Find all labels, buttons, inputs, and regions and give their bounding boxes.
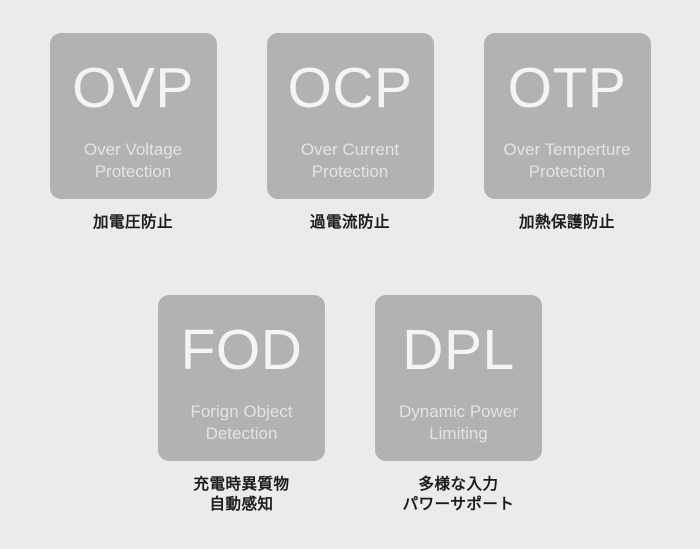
feature-caption-line-1: 過電流防止 (310, 214, 390, 231)
feature-description-line-1: Over Current (301, 140, 399, 159)
feature-description-line-2: Limiting (399, 423, 518, 445)
feature-caption: 過電流防止 (310, 213, 390, 233)
feature-card-dpl[interactable]: DPL Dynamic Power Limiting (375, 295, 542, 461)
feature-description: Over Voltage Protection (84, 139, 182, 183)
feature-card-ovp[interactable]: OVP Over Voltage Protection (50, 33, 217, 199)
features-row-top: OVP Over Voltage Protection 加電圧防止 OCP Ov… (0, 33, 700, 233)
feature-caption: 加熱保護防止 (519, 213, 615, 233)
feature-description-line-2: Protection (503, 161, 630, 183)
feature-description: Over Temperture Protection (503, 139, 630, 183)
feature-ovp[interactable]: OVP Over Voltage Protection 加電圧防止 (50, 33, 217, 233)
feature-description-line-1: Over Temperture (503, 140, 630, 159)
feature-description: Over Current Protection (301, 139, 399, 183)
feature-description-line-1: Over Voltage (84, 140, 182, 159)
feature-acronym: OCP (287, 60, 412, 117)
feature-description: Dynamic Power Limiting (399, 401, 518, 445)
feature-dpl[interactable]: DPL Dynamic Power Limiting 多様な入力 パワーサポート (375, 295, 542, 515)
features-row-bottom: FOD Forign Object Detection 充電時異質物 自動感知 … (0, 295, 700, 515)
feature-caption-line-2: 自動感知 (193, 495, 289, 515)
feature-acronym: OVP (72, 60, 194, 117)
feature-caption: 充電時異質物 自動感知 (193, 475, 289, 515)
feature-caption-line-1: 加電圧防止 (93, 214, 173, 231)
feature-description-line-2: Protection (301, 161, 399, 183)
feature-caption: 加電圧防止 (93, 213, 173, 233)
feature-caption-line-1: 加熱保護防止 (519, 214, 615, 231)
feature-description-line-2: Detection (190, 423, 292, 445)
feature-description-line-1: Forign Object (190, 402, 292, 421)
feature-fod[interactable]: FOD Forign Object Detection 充電時異質物 自動感知 (158, 295, 325, 515)
feature-caption-line-2: パワーサポート (403, 495, 515, 515)
feature-caption-line-1: 多様な入力 (418, 476, 498, 493)
feature-acronym: FOD (181, 322, 303, 379)
feature-card-ocp[interactable]: OCP Over Current Protection (267, 33, 434, 199)
feature-caption-line-1: 充電時異質物 (193, 476, 289, 493)
feature-acronym: OTP (508, 60, 627, 117)
feature-description: Forign Object Detection (190, 401, 292, 445)
feature-description-line-2: Protection (84, 161, 182, 183)
feature-card-otp[interactable]: OTP Over Temperture Protection (484, 33, 651, 199)
features-board: OVP Over Voltage Protection 加電圧防止 OCP Ov… (0, 0, 700, 549)
feature-card-fod[interactable]: FOD Forign Object Detection (158, 295, 325, 461)
feature-acronym: DPL (402, 322, 514, 379)
feature-ocp[interactable]: OCP Over Current Protection 過電流防止 (267, 33, 434, 233)
feature-description-line-1: Dynamic Power (399, 402, 518, 421)
feature-caption: 多様な入力 パワーサポート (403, 475, 515, 515)
feature-otp[interactable]: OTP Over Temperture Protection 加熱保護防止 (484, 33, 651, 233)
